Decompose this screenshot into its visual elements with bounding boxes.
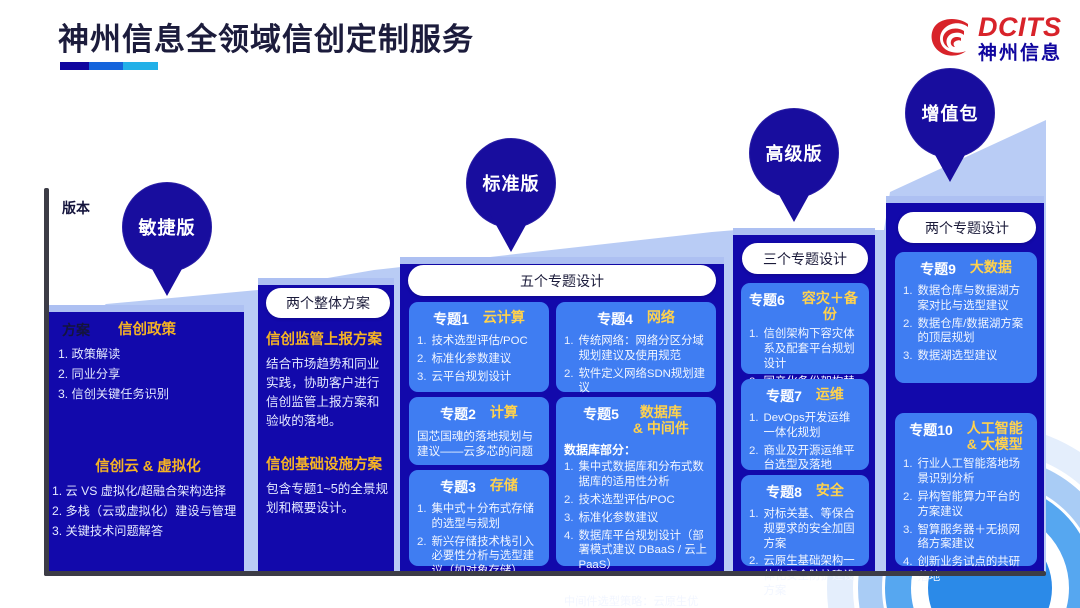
list-item: 1.行业人工智能落地场景识别分析 <box>903 457 1029 487</box>
slide-canvas: 神州信息全领域信创定制服务 DCITS 神州信息 信创政策 <box>0 0 1080 608</box>
pill-two-topic-designs[interactable]: 两个专题设计 <box>898 212 1036 243</box>
list-item: 4.数据库平台规划设计（部署模式建议 DBaaS / 云上PaaS） <box>564 529 708 573</box>
pin-label: 高级版 <box>766 140 823 166</box>
block-regulatory-reporting: 信创监管上报方案 结合市场趋势和同业实践，协助客户进行信创监管上报方案和验收的落… <box>266 328 390 431</box>
list-item: 2.技术选型评估/POC <box>564 493 708 508</box>
block-list: 1. 政策解读 2. 同业分享 3. 信创关键任务识别 <box>58 345 236 403</box>
list-item: 3. 关键技术问题解答 <box>52 522 244 540</box>
topic-subheading: 数据库部分： <box>564 441 708 458</box>
topic-number: 专题6 <box>749 290 785 310</box>
topic-number: 专题5 <box>583 404 619 424</box>
list-item: 3.智算服务器＋无损网络方案建议 <box>903 523 1029 553</box>
topic-number: 专题10 <box>909 420 953 440</box>
column-cap <box>400 257 724 264</box>
block-infrastructure-solution: 信创基础设施方案 包含专题1~5的全景规划和概要设计。 <box>266 453 390 518</box>
topic-name: 人工智能 & 大模型 <box>967 420 1023 452</box>
topic-list: 1.集中式＋分布式存储的选型与规划 2.新兴存储技术栈引入必要性分析与选型建议（… <box>417 502 541 579</box>
title-accent-bar <box>60 62 158 70</box>
topic-list: 1.数据仓库与数据湖方案对比与选型建议 2.数据仓库/数据湖方案的顶层规划 3.… <box>903 284 1029 364</box>
list-item: 1.DevOps开发运维一体化规划 <box>749 411 861 441</box>
list-item: 1.信创架构下容灾体系及配套平台规划设计 <box>749 327 861 371</box>
list-item: 4.创新业务试点的共研落地 <box>903 555 1029 585</box>
list-item: 1.集中式数据库和分布式数据库的适用性分析 <box>564 460 708 490</box>
dcits-swirl-icon <box>928 15 972 61</box>
list-item: 3. 信创关键任务识别 <box>58 385 236 403</box>
topic-list: 1.对标关基、等保合规要求的安全加固方案 2.云原生基础架构一体化安全防护建设方… <box>749 507 861 599</box>
list-item: 3.云平台规划设计 <box>417 370 541 385</box>
topic-card-8[interactable]: 专题8 安全 1.对标关基、等保合规要求的安全加固方案 2.云原生基础架构一体化… <box>741 475 869 566</box>
block-text: 包含专题1~5的全景规划和概要设计。 <box>266 480 390 518</box>
topic-card-9[interactable]: 专题9 大数据 1.数据仓库与数据湖方案对比与选型建议 2.数据仓库/数据湖方案… <box>895 252 1037 383</box>
axis-label-version: 版本 <box>62 198 90 218</box>
topic-name: 计算 <box>490 404 518 420</box>
topic-list: 1.行业人工智能落地场景识别分析 2.异构智能算力平台的方案建议 3.智算服务器… <box>903 457 1029 585</box>
pin-advanced-edition[interactable]: 高级版 <box>749 108 839 198</box>
list-item: 1.技术选型评估/POC <box>417 334 541 349</box>
topic-name: 存储 <box>490 477 518 493</box>
list-item: 2.数据仓库/数据湖方案的顶层规划 <box>903 317 1029 347</box>
topic-body: 国芯国魂的落地规划与建议——云多芯的问题 <box>417 429 541 460</box>
axis-horizontal <box>44 571 1046 576</box>
column-cap <box>48 305 244 312</box>
topic-number: 专题1 <box>433 309 469 329</box>
topic-list: 1.集中式数据库和分布式数据库的适用性分析 2.技术选型评估/POC 3.标准化… <box>564 460 708 573</box>
list-item: 2. 同业分享 <box>58 365 236 383</box>
pin-label: 标准版 <box>483 170 540 196</box>
topic-card-1[interactable]: 专题1 云计算 1.技术选型评估/POC 2.标准化参数建议 3.云平台规划设计 <box>409 302 549 392</box>
list-item: 3.数据湖选型建议 <box>903 349 1029 364</box>
topic-card-4[interactable]: 专题4 网络 1.传统网络：网络分区分域规划建议及使用规范 2.软件定义网络SD… <box>556 302 716 392</box>
list-item: 2.软件定义网络SDN规划建议 <box>564 367 708 397</box>
pin-label: 增值包 <box>922 100 979 126</box>
list-item: 3.标准化参数建议 <box>564 511 708 526</box>
block-title: 信创云 & 虚拟化 <box>52 455 244 476</box>
topic-list: 1.传统网络：网络分区分域规划建议及使用规范 2.软件定义网络SDN规划建议 <box>564 334 708 396</box>
topic-number: 专题7 <box>766 386 802 406</box>
pin-label: 敏捷版 <box>139 214 196 240</box>
topic-name: 数据库 & 中间件 <box>633 404 689 436</box>
topic-number: 专题9 <box>920 259 956 279</box>
pin-agile-edition[interactable]: 敏捷版 <box>122 182 212 272</box>
axis-label-plan: 方案 <box>62 320 90 340</box>
block-title: 信创基础设施方案 <box>266 453 390 474</box>
logo-wordmark-cn: 神州信息 <box>978 44 1062 63</box>
pill-two-overall-solutions[interactable]: 两个整体方案 <box>266 288 390 318</box>
pin-value-added-package[interactable]: 增值包 <box>905 68 995 158</box>
topic-name: 安全 <box>816 482 844 498</box>
list-item: 2.商业及开源运维平台选型及落地 <box>749 444 861 474</box>
list-item: 2.异构智能算力平台的方案建议 <box>903 490 1029 520</box>
list-item: 2. 多栈（云或虚拟化）建设与管理 <box>52 502 244 520</box>
list-item: 2.标准化参数建议 <box>417 352 541 367</box>
topic-card-2[interactable]: 专题2 计算 国芯国魂的落地规划与建议——云多芯的问题 <box>409 397 549 465</box>
topic-number: 专题3 <box>440 477 476 497</box>
block-title: 信创监管上报方案 <box>266 328 390 349</box>
column-cap <box>886 196 1044 203</box>
topic-card-7[interactable]: 专题7 运维 1.DevOps开发运维一体化规划 2.商业及开源运维平台选型及落… <box>741 379 869 470</box>
topic-name: 运维 <box>816 386 844 402</box>
topic-card-6[interactable]: 专题6 容灾＋备份 1.信创架构下容灾体系及配套平台规划设计 2.国产化备份架构… <box>741 283 869 374</box>
topic-list: 1.技术选型评估/POC 2.标准化参数建议 3.云平台规划设计 <box>417 334 541 384</box>
topic-name: 云计算 <box>483 309 525 325</box>
block-list: 1. 云 VS 虚拟化/超融合架构选择 2. 多栈（云或虚拟化）建设与管理 3.… <box>52 482 244 540</box>
logo-wordmark: DCITS <box>978 14 1062 41</box>
page-title: 神州信息全领域信创定制服务 <box>58 14 474 59</box>
topic-card-5[interactable]: 专题5 数据库 & 中间件 数据库部分： 1.集中式数据库和分布式数据库的适用性… <box>556 397 716 566</box>
block-text: 结合市场趋势和同业实践，协助客户进行信创监管上报方案和验收的落地。 <box>266 355 390 431</box>
topic-card-3[interactable]: 专题3 存储 1.集中式＋分布式存储的选型与规划 2.新兴存储技术栈引入必要性分… <box>409 470 549 566</box>
topic-note: 中间件选型策略：云原生优先＋传统信创中间件＋开源管理 <box>564 595 708 608</box>
pill-three-topic-designs[interactable]: 三个专题设计 <box>742 243 868 274</box>
topic-name: 大数据 <box>970 259 1012 275</box>
topic-number: 专题4 <box>597 309 633 329</box>
list-item: 1.集中式＋分布式存储的选型与规划 <box>417 502 541 532</box>
topic-name: 网络 <box>647 309 675 325</box>
topic-list: 1.DevOps开发运维一体化规划 2.商业及开源运维平台选型及落地 <box>749 411 861 473</box>
list-item: 1.传统网络：网络分区分域规划建议及使用规范 <box>564 334 708 364</box>
brand-logo: DCITS 神州信息 <box>928 8 1062 68</box>
pill-five-topic-designs[interactable]: 五个专题设计 <box>408 265 716 296</box>
column-cap <box>258 278 394 285</box>
column-cap <box>733 228 875 235</box>
list-item: 1.数据仓库与数据湖方案对比与选型建议 <box>903 284 1029 314</box>
topic-subheading: 中间件部分： <box>564 576 708 593</box>
topic-number: 专题2 <box>440 404 476 424</box>
axis-vertical <box>44 188 49 576</box>
list-item: 1.对标关基、等保合规要求的安全加固方案 <box>749 507 861 551</box>
topic-card-10[interactable]: 专题10 人工智能 & 大模型 1.行业人工智能落地场景识别分析 2.异构智能算… <box>895 413 1037 566</box>
list-item: 1. 政策解读 <box>58 345 236 363</box>
topic-name: 容灾＋备份 <box>799 290 861 322</box>
list-item: 2.云原生基础架构一体化安全防护建设方案 <box>749 554 861 598</box>
pin-standard-edition[interactable]: 标准版 <box>466 138 556 228</box>
list-item: 1. 云 VS 虚拟化/超融合架构选择 <box>52 482 244 500</box>
block-cloud-virtualization: 信创云 & 虚拟化 1. 云 VS 虚拟化/超融合架构选择 2. 多栈（云或虚拟… <box>52 455 244 542</box>
topic-number: 专题8 <box>766 482 802 502</box>
